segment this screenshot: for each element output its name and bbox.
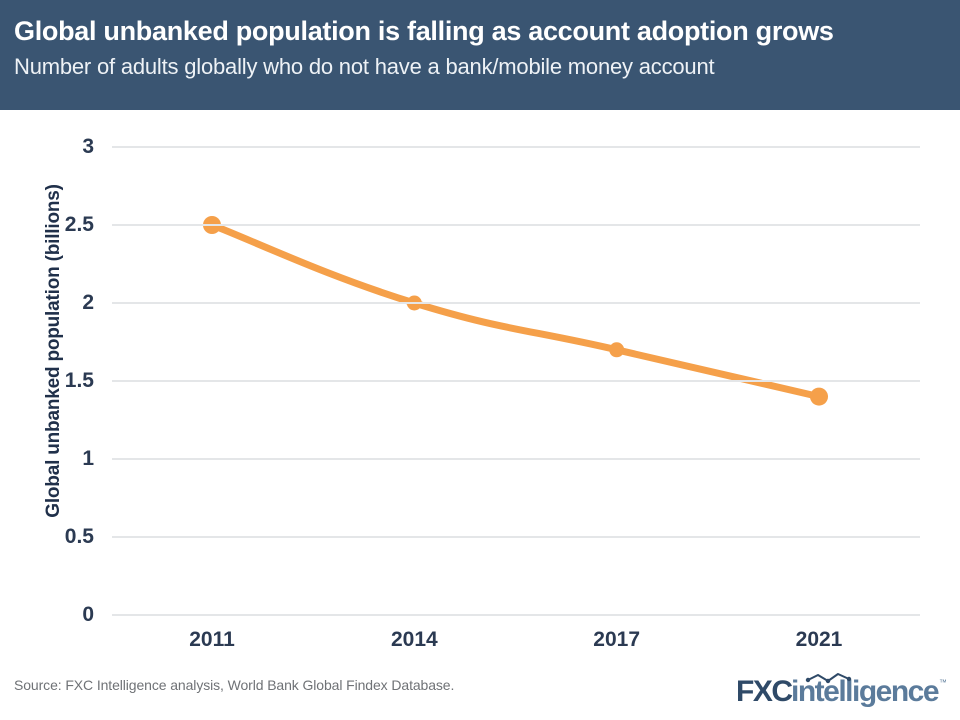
gridline	[112, 146, 920, 148]
line-series-path	[212, 225, 819, 397]
gridline	[112, 536, 920, 538]
x-axis-tick-label: 2021	[759, 628, 879, 652]
logo-spark-dot-icon	[826, 679, 830, 683]
x-axis-tick-label: 2014	[354, 628, 474, 652]
fxc-intelligence-logo: FXC intelligence ™	[736, 670, 946, 710]
y-axis-tick-label: 1.5	[34, 369, 94, 393]
chart-header-banner: Global unbanked population is falling as…	[0, 0, 960, 110]
data-point-marker[interactable]	[609, 342, 624, 357]
y-axis-tick-label: 0.5	[34, 525, 94, 549]
logo-primary-text: FXC	[736, 675, 792, 708]
y-axis-tick-label: 1	[34, 447, 94, 471]
x-axis-tick-label: 2017	[557, 628, 677, 652]
logo-trademark: ™	[939, 678, 946, 687]
chart-footer: Source: FXC Intelligence analysis, World…	[0, 660, 960, 720]
logo-secondary-text: intelligence	[791, 675, 939, 708]
page-subtitle: Number of adults globally who do not hav…	[14, 52, 946, 82]
logo-spark-dot-icon	[847, 677, 851, 681]
line-series-svg	[112, 110, 920, 660]
source-note: Source: FXC Intelligence analysis, World…	[14, 677, 454, 693]
logo-spark-dot-icon	[806, 678, 810, 682]
y-axis-tick-label: 0	[34, 603, 94, 627]
gridline	[112, 458, 920, 460]
data-point-marker[interactable]	[810, 388, 828, 406]
y-axis-tick-labels: 32.521.510.50	[34, 110, 94, 660]
plot-inner	[112, 110, 920, 660]
gridline	[112, 380, 920, 382]
gridline	[112, 224, 920, 226]
x-axis-tick-label: 2011	[152, 628, 272, 652]
y-axis-tick-label: 2.5	[34, 213, 94, 237]
gridline	[112, 302, 920, 304]
page-title: Global unbanked population is falling as…	[14, 14, 946, 48]
gridline	[112, 614, 920, 616]
y-axis-tick-label: 3	[34, 135, 94, 159]
chart-plot-region: Global unbanked population (billions) 32…	[0, 110, 960, 660]
y-axis-tick-label: 2	[34, 291, 94, 315]
